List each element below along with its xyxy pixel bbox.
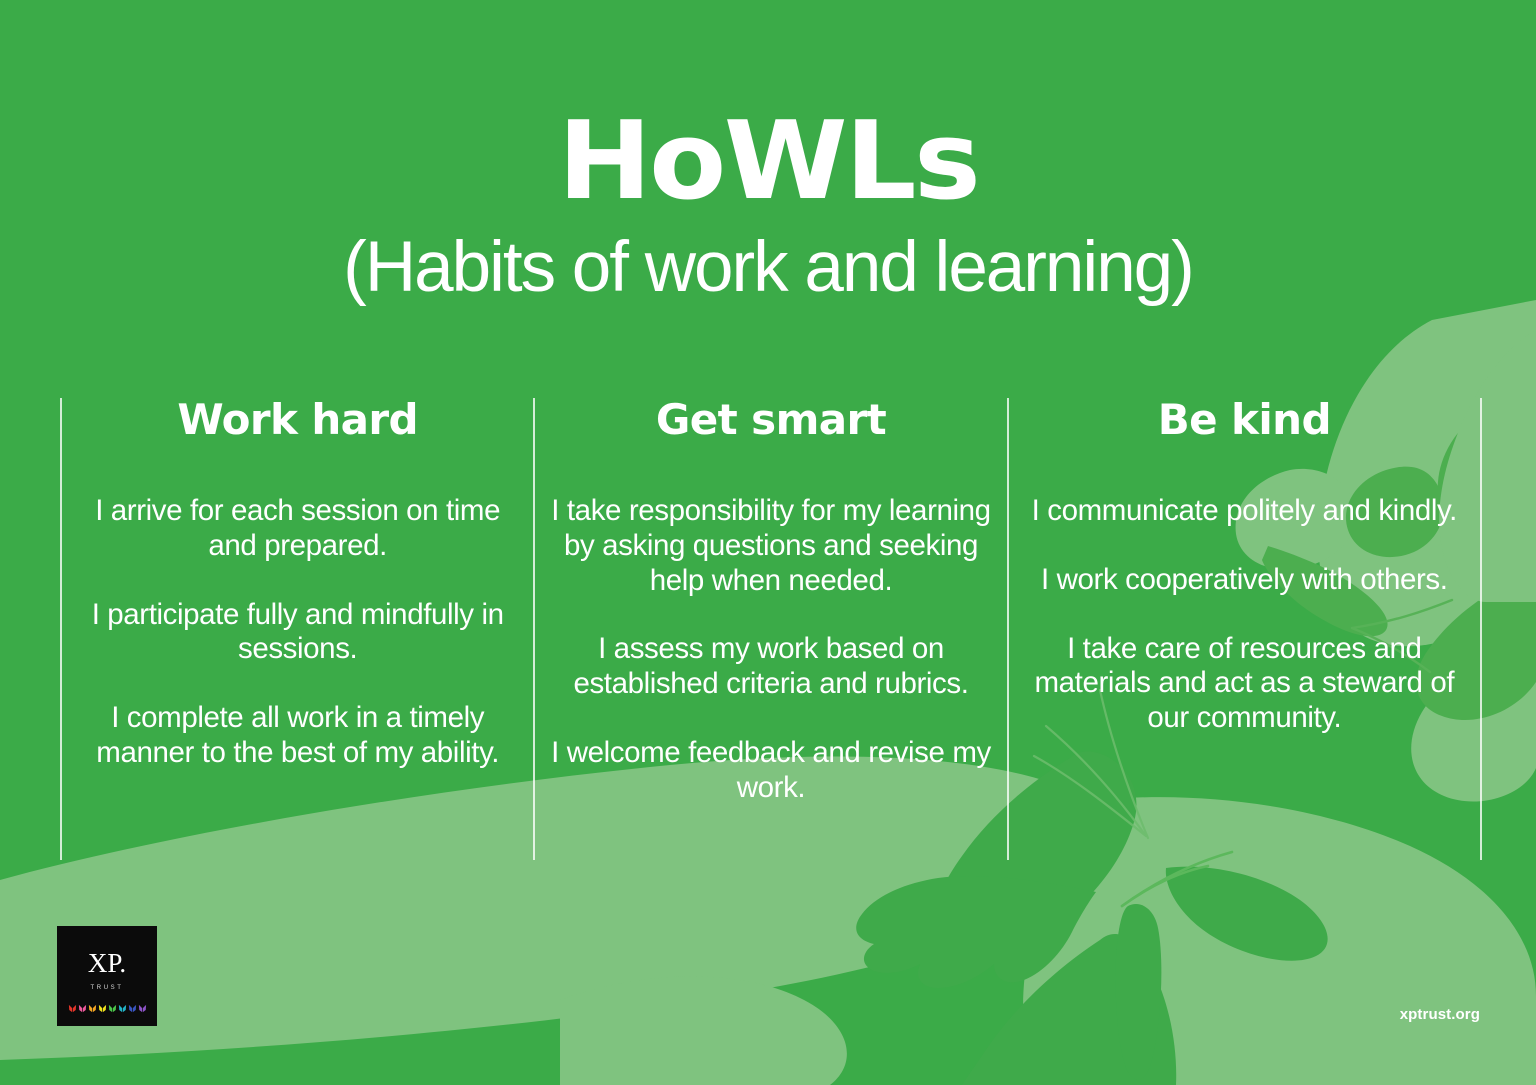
list-item: I complete all work in a timely manner t… [75,701,520,771]
list-item: I arrive for each session on time and pr… [75,494,520,564]
column-divider-middle-right [1007,398,1009,860]
xp-trust-logo: XP. TRUST [57,926,157,1026]
site-url: xptrust.org [1400,1006,1480,1023]
butterfly-icon [138,1004,147,1013]
title-block: HoWLs (Habits of work and learning) [0,108,1536,303]
logo-wordmark: XP. [88,950,126,977]
logo-subtext: TRUST [91,985,124,991]
column-work-hard: Work hard I arrive for each session on t… [61,398,534,860]
list-item: I assess my work based on established cr… [548,632,993,702]
column-divider-middle-left [533,398,535,860]
howls-columns: Work hard I arrive for each session on t… [61,398,1481,860]
logo-butterfly-row [68,1004,147,1013]
list-item: I take responsibility for my learning by… [548,494,993,598]
column-items-be-kind: I communicate politely and kindly. I wor… [1022,494,1467,736]
column-divider-left [60,398,62,860]
butterfly-icon [128,1004,137,1013]
howls-poster: HoWLs (Habits of work and learning) Work… [0,0,1536,1085]
butterfly-icon [68,1004,77,1013]
list-item: I communicate politely and kindly. [1022,494,1467,529]
list-item: I work cooperatively with others. [1022,563,1467,598]
butterfly-icon [118,1004,127,1013]
list-item: I participate fully and mindfully in ses… [75,598,520,668]
butterfly-icon [98,1004,107,1013]
page-title: HoWLs [0,108,1536,216]
butterfly-icon [88,1004,97,1013]
butterfly-antennae-bottom [1122,852,1232,906]
column-items-work-hard: I arrive for each session on time and pr… [75,494,520,771]
column-get-smart: Get smart I take responsibility for my l… [534,398,1007,860]
column-heading-work-hard: Work hard [75,398,520,442]
butterfly-icon [108,1004,117,1013]
butterfly-icon [78,1004,87,1013]
column-heading-be-kind: Be kind [1022,398,1467,442]
list-item: I take care of resources and materials a… [1022,632,1467,736]
page-subtitle: (Habits of work and learning) [0,232,1536,303]
list-item: I welcome feedback and revise my work. [548,736,993,806]
column-heading-get-smart: Get smart [548,398,993,442]
column-divider-right [1480,398,1482,860]
column-items-get-smart: I take responsibility for my learning by… [548,494,993,806]
column-be-kind: Be kind I communicate politely and kindl… [1008,398,1481,860]
